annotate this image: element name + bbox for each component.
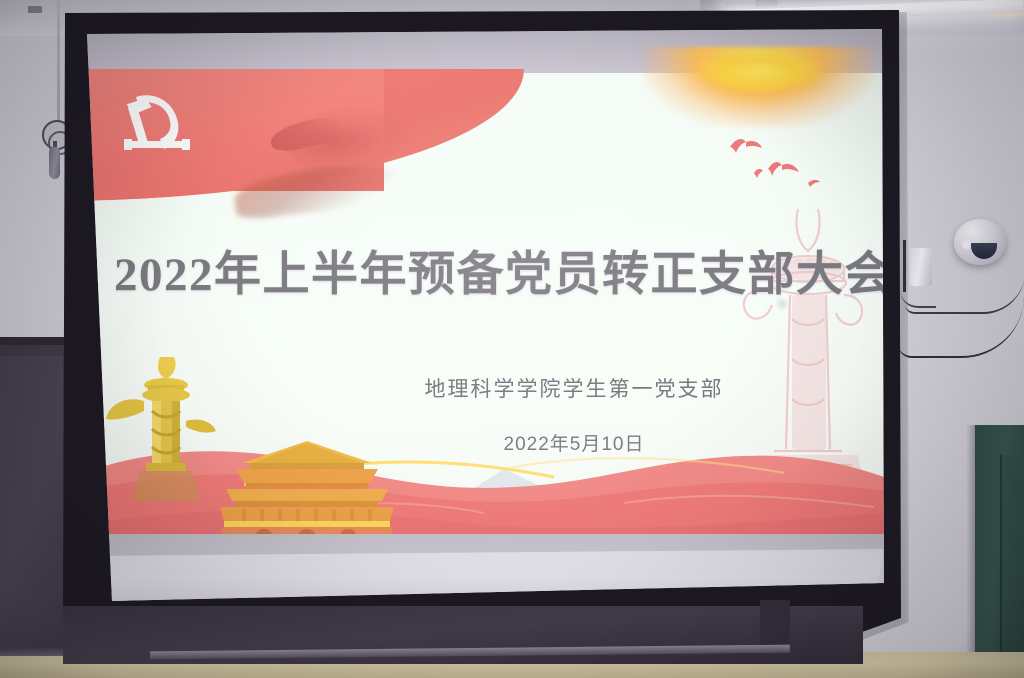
projection-screen-surface[interactable]: 2022年上半年预备党员转正支部大会 地理科学学院学生第一党支部 2022年5月…	[84, 29, 884, 601]
wall-bracket	[28, 6, 42, 13]
light-bracket	[755, 0, 777, 7]
flying-birds-icon	[724, 133, 834, 195]
sun-core	[696, 59, 824, 93]
hammer-and-sickle-icon	[118, 87, 202, 163]
light-endcap-glow	[984, 8, 1024, 20]
hanging-cord-line	[57, 0, 60, 122]
tiananmen-gate-graphic	[212, 439, 402, 549]
slide-date: 2022年5月10日	[424, 429, 724, 456]
cord-weight	[49, 147, 60, 179]
slide-bottom-letterbox	[84, 534, 884, 556]
green-door-inner-panel	[1000, 455, 1024, 655]
slide-subtitle: 地理科学学院学生第一党支部	[384, 373, 764, 403]
slide-title: 2022年上半年预备党员转正支部大会	[114, 235, 854, 304]
classroom-photo-scene: 2022年上半年预备党员转正支部大会 地理科学学院学生第一党支部 2022年5月…	[0, 0, 1024, 678]
camera-lens-highlight	[962, 240, 971, 249]
left-chalkboard-inner	[0, 356, 63, 652]
projected-slide: 2022年上半年预备党员转正支部大会 地理科学学院学生第一党支部 2022年5月…	[84, 29, 884, 556]
